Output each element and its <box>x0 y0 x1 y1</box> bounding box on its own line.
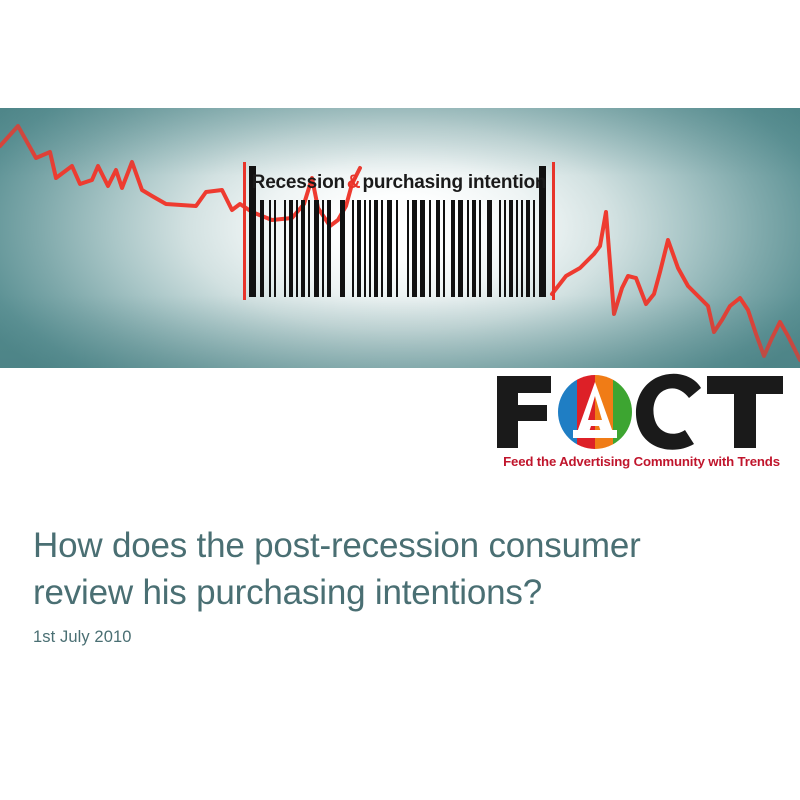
barcode-caption-before: Recession <box>252 172 345 194</box>
logo-letter-a-wheel <box>558 375 633 449</box>
page-title-line-2: review his purchasing intentions? <box>33 573 542 612</box>
presentation-date: 1st July 2010 <box>33 628 132 647</box>
barcode-rail-left <box>243 162 246 300</box>
barcode-bars <box>260 200 538 297</box>
logo-letter-f <box>497 376 551 448</box>
fact-wordmark <box>489 372 794 452</box>
logo-letter-c <box>636 374 701 450</box>
barcode-rail-right <box>552 162 555 300</box>
page-title: How does the post-recession consumer rev… <box>33 522 763 616</box>
barcode-caption: Recession & purchasing intention <box>263 168 535 198</box>
barcode-caption-after: purchasing intention <box>362 172 546 194</box>
barcode-caption-ampersand: & <box>345 172 363 194</box>
barcode-graphic: Recession & purchasing intention <box>243 162 555 300</box>
logo-tagline: Feed the Advertising Community with Tren… <box>489 454 794 469</box>
fact-logo: Feed the Advertising Community with Tren… <box>489 372 794 478</box>
logo-letter-t <box>707 376 783 448</box>
page-title-line-1: How does the post-recession consumer <box>33 526 641 565</box>
